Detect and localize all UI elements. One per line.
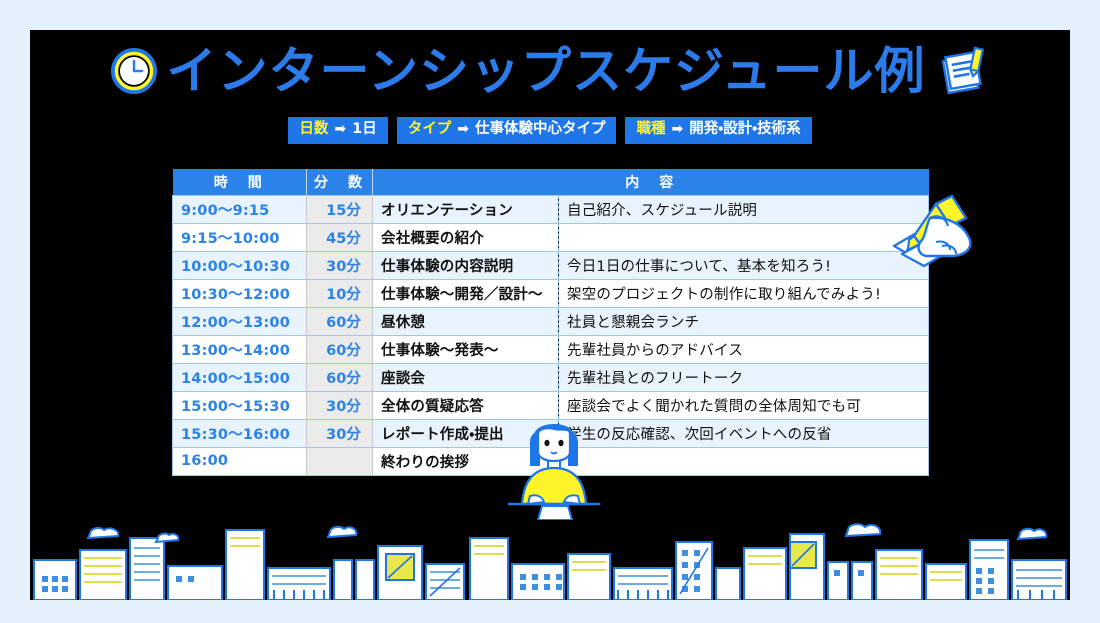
badge-type-value: 仕事体験中心タイプ — [475, 122, 606, 138]
badge-type-key: タイプ — [408, 122, 452, 138]
cell-minutes — [307, 447, 373, 475]
table-row: 14:00〜15:0060分座談会先輩社員とのフリートーク — [173, 363, 929, 391]
table-row: 15:30〜16:0030分レポート作成・提出学生の反応確認、次回イベントへの反… — [173, 419, 929, 447]
cell-description: 学生の反応確認、次回イベントへの反省 — [559, 419, 929, 447]
cell-minutes: 30分 — [307, 251, 373, 279]
cell-minutes: 60分 — [307, 363, 373, 391]
cell-description — [559, 223, 929, 251]
cell-topic: 昼休憩 — [373, 307, 559, 335]
badge-days: 日数 ➡ 1日 — [288, 117, 387, 144]
cell-time: 13:00〜14:00 — [173, 335, 307, 363]
cell-description: 座談会でよく聞かれた質問の全体周知でも可 — [559, 391, 929, 419]
badge-days-value: 1日 — [352, 122, 377, 138]
column-header-minutes: 分 数 — [307, 169, 373, 195]
table-row: 15:00〜15:3030分全体の質疑応答座談会でよく聞かれた質問の全体周知でも… — [173, 391, 929, 419]
cell-topic: 終わりの挨拶 — [373, 447, 559, 475]
table-head: 時 間 分 数 内 容 — [173, 169, 929, 195]
cell-time: 9:15〜10:00 — [173, 223, 307, 251]
schedule-table: 時 間 分 数 内 容 9:00〜9:1515分オリエンテーション自己紹介、スケ… — [172, 169, 929, 476]
column-header-content: 内 容 — [373, 169, 929, 195]
badge-type: タイプ ➡ 仕事体験中心タイプ — [397, 117, 617, 144]
page-title: インターンシップスケジュール例 — [167, 46, 926, 96]
cell-time: 15:30〜16:00 — [173, 419, 307, 447]
cell-topic: オリエンテーション — [373, 195, 559, 223]
table-row: 9:00〜9:1515分オリエンテーション自己紹介、スケジュール説明 — [173, 195, 929, 223]
table-row: 16:00終わりの挨拶 — [173, 447, 929, 475]
cell-time: 10:30〜12:00 — [173, 279, 307, 307]
column-header-time: 時 間 — [173, 169, 307, 195]
cell-minutes: 15分 — [307, 195, 373, 223]
notepad-pencil-icon — [936, 44, 990, 98]
cell-time: 10:00〜10:30 — [173, 251, 307, 279]
clock-icon — [111, 48, 157, 94]
arrow-right-icon: ➡ — [671, 122, 683, 137]
cell-minutes: 60分 — [307, 335, 373, 363]
badge-jobcategory-key: 職種 — [636, 122, 665, 138]
cell-topic: 仕事体験〜開発／設計〜 — [373, 279, 559, 307]
badge-jobcategory: 職種 ➡ 開発・設計・技術系 — [625, 117, 811, 144]
table-row: 10:30〜12:0010分仕事体験〜開発／設計〜架空のプロジェクトの制作に取り… — [173, 279, 929, 307]
cell-description: 今日1日の仕事について、基本を知ろう! — [559, 251, 929, 279]
cell-description: 架空のプロジェクトの制作に取り組んでみよう! — [559, 279, 929, 307]
cell-time: 9:00〜9:15 — [173, 195, 307, 223]
badge-days-key: 日数 — [299, 122, 328, 138]
cell-description: 社員と懇親会ランチ — [559, 307, 929, 335]
page-title-row: インターンシップスケジュール例 — [30, 44, 1070, 98]
cell-topic: 仕事体験〜発表〜 — [373, 335, 559, 363]
schedule-table-wrap: 時 間 分 数 内 容 9:00〜9:1515分オリエンテーション自己紹介、スケ… — [172, 169, 928, 476]
cell-time: 16:00 — [173, 447, 307, 475]
cell-description: 先輩社員とのフリートーク — [559, 363, 929, 391]
cell-topic: 仕事体験の内容説明 — [373, 251, 559, 279]
cell-description: 自己紹介、スケジュール説明 — [559, 195, 929, 223]
cell-minutes: 30分 — [307, 419, 373, 447]
cell-minutes: 30分 — [307, 391, 373, 419]
cell-topic: 全体の質疑応答 — [373, 391, 559, 419]
cell-topic: レポート作成・提出 — [373, 419, 559, 447]
cell-minutes: 45分 — [307, 223, 373, 251]
arrow-right-icon: ➡ — [334, 122, 346, 137]
cell-description — [559, 447, 929, 475]
badge-row: 日数 ➡ 1日 タイプ ➡ 仕事体験中心タイプ 職種 ➡ 開発・設計・技術系 — [30, 117, 1070, 144]
cell-minutes: 60分 — [307, 307, 373, 335]
table-row: 9:15〜10:0045分会社概要の紹介 — [173, 223, 929, 251]
cell-description: 先輩社員からのアドバイス — [559, 335, 929, 363]
cell-topic: 会社概要の紹介 — [373, 223, 559, 251]
table-header-row: 時 間 分 数 内 容 — [173, 169, 929, 195]
cell-topic: 座談会 — [373, 363, 559, 391]
cell-minutes: 10分 — [307, 279, 373, 307]
badge-jobcategory-value: 開発・設計・技術系 — [689, 122, 800, 138]
table-body: 9:00〜9:1515分オリエンテーション自己紹介、スケジュール説明9:15〜1… — [173, 195, 929, 475]
arrow-right-icon: ➡ — [457, 122, 469, 137]
table-row: 12:00〜13:0060分昼休憩社員と懇親会ランチ — [173, 307, 929, 335]
cell-time: 12:00〜13:00 — [173, 307, 307, 335]
cityscape-skyline-icon — [30, 520, 1070, 600]
table-row: 10:00〜10:3030分仕事体験の内容説明今日1日の仕事について、基本を知ろ… — [173, 251, 929, 279]
page-root: インターンシップスケジュール例 日数 ➡ 1日 — [0, 0, 1100, 623]
cell-time: 14:00〜15:00 — [173, 363, 307, 391]
cell-time: 15:00〜15:30 — [173, 391, 307, 419]
table-row: 13:00〜14:0060分仕事体験〜発表〜先輩社員からのアドバイス — [173, 335, 929, 363]
content-card: インターンシップスケジュール例 日数 ➡ 1日 — [30, 30, 1070, 600]
